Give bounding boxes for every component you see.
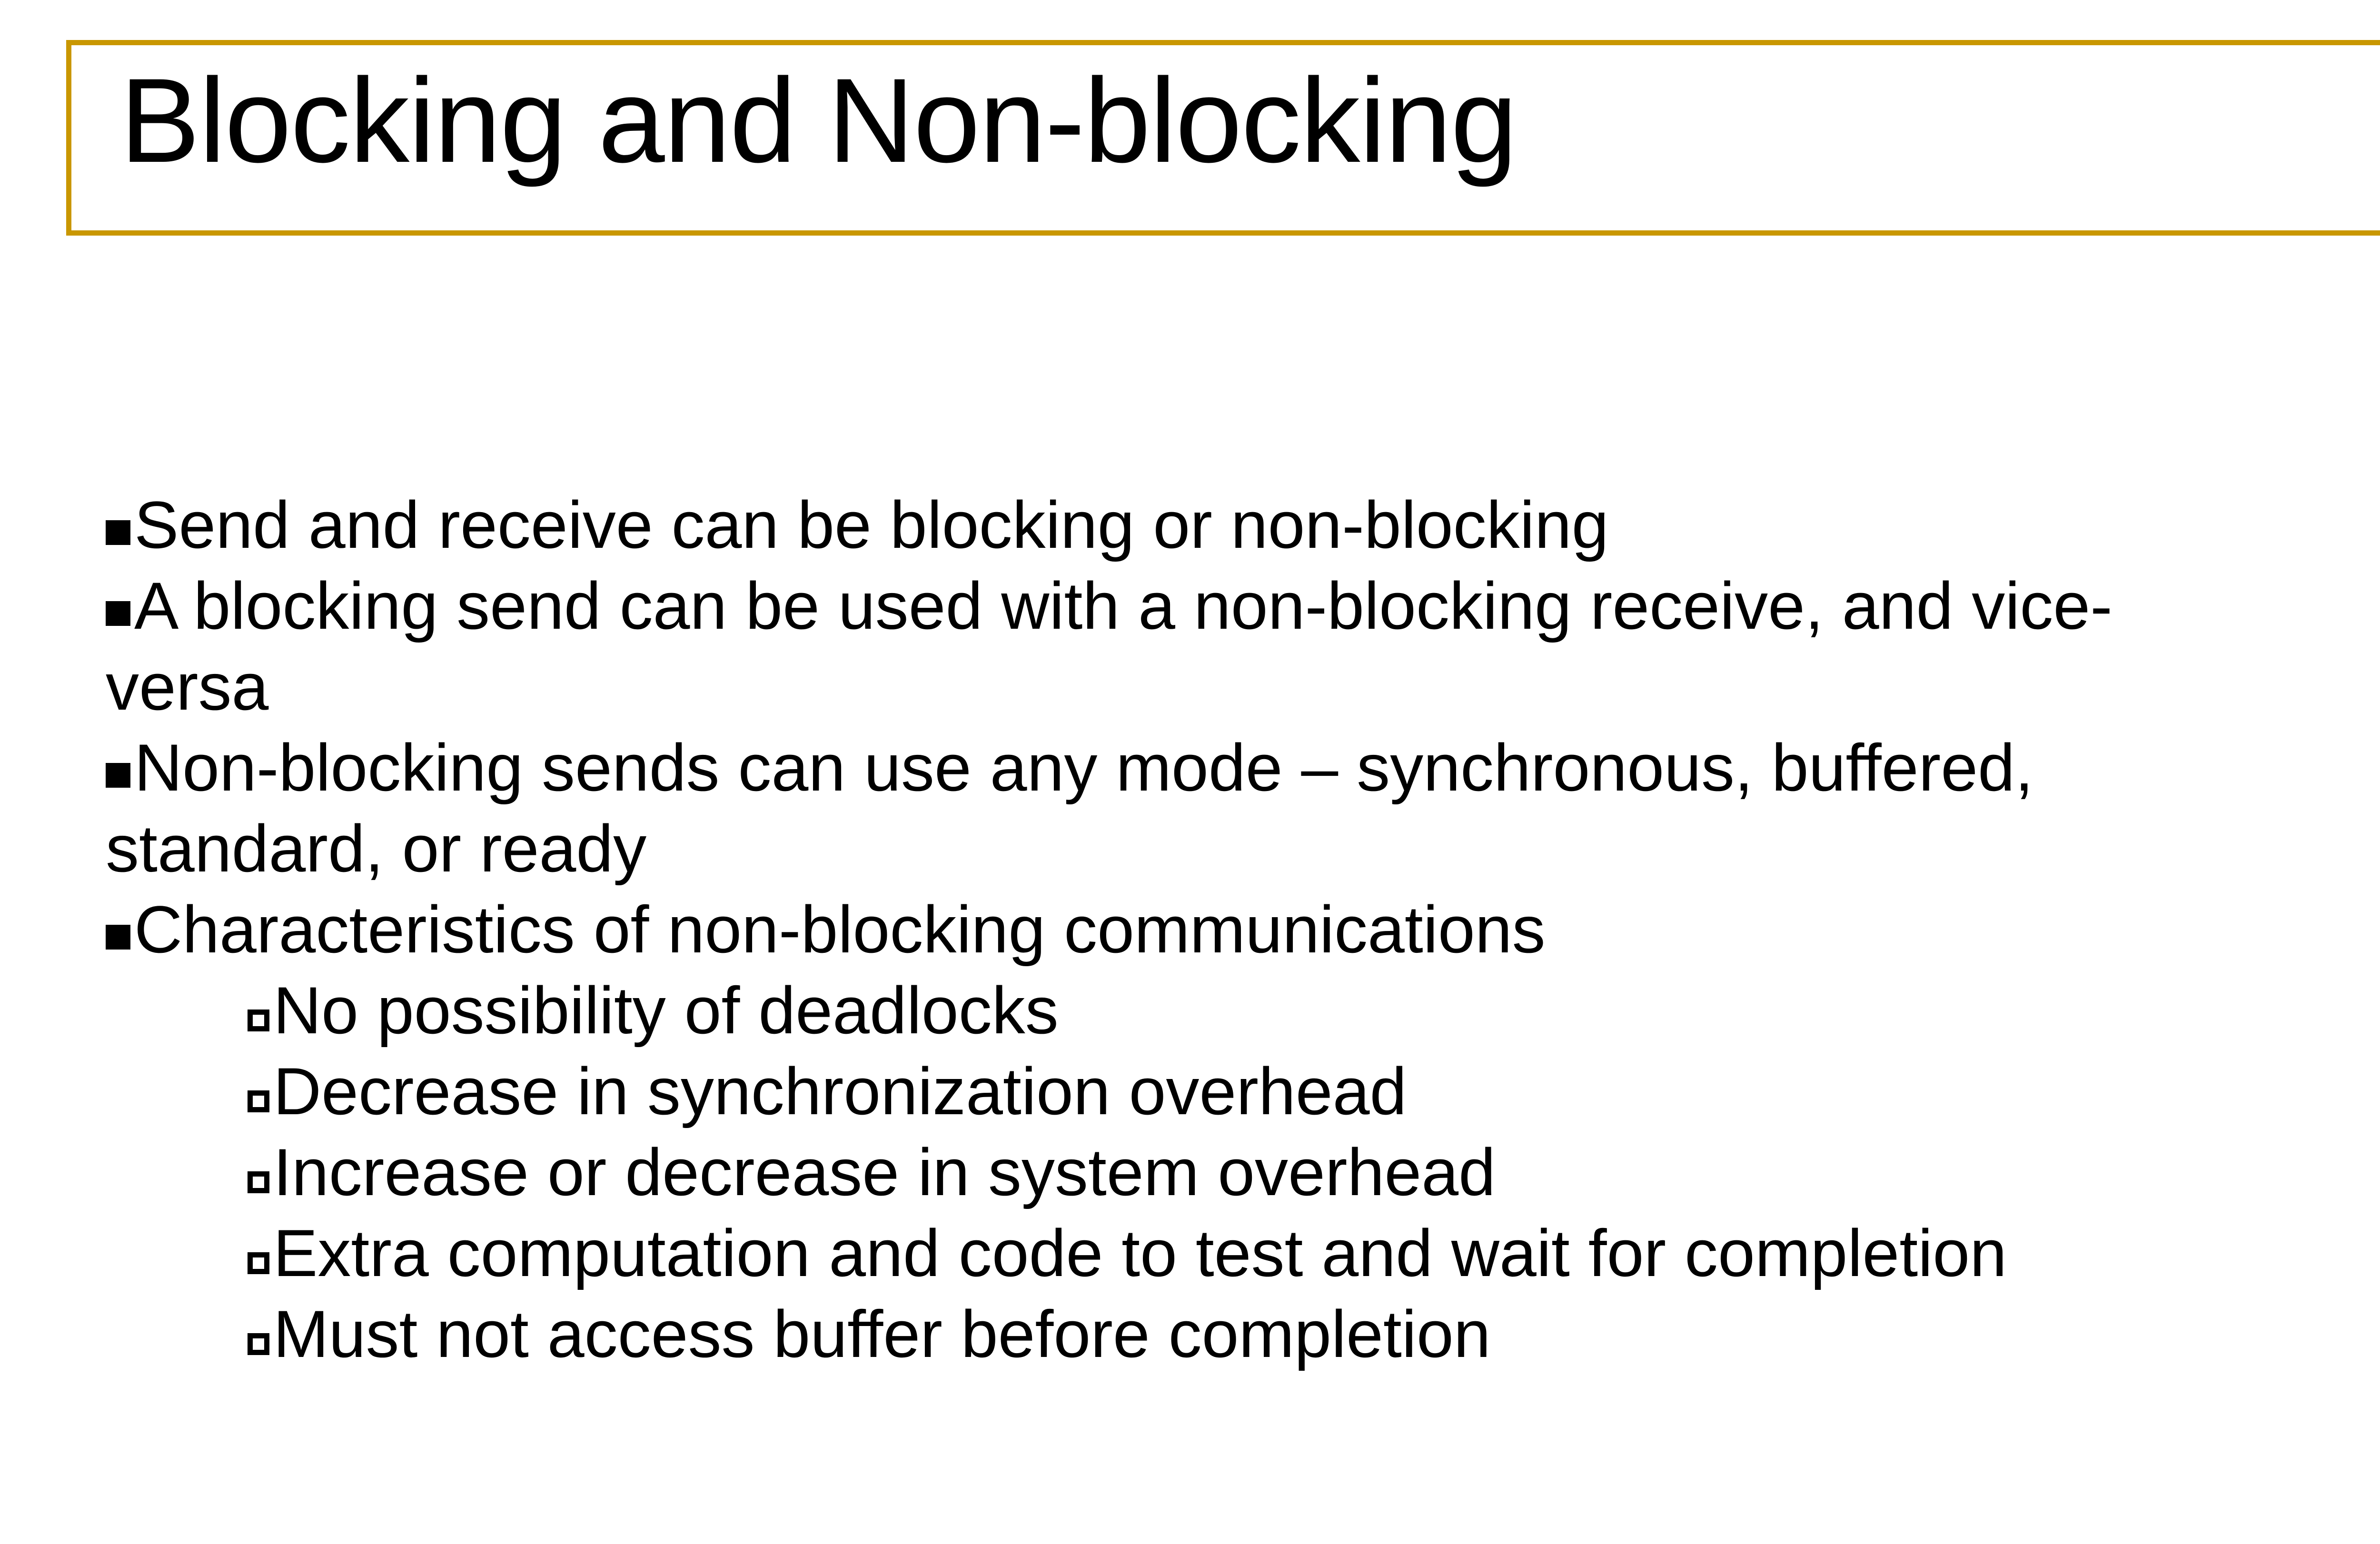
hollow-square-bullet-icon [248,1090,269,1112]
hollow-square-bullet-icon [248,1171,269,1193]
filled-square-bullet-icon [106,601,130,626]
list-item: Characteristics of non-blocking communic… [106,889,2380,970]
slide-canvas: Blocking and Non-blocking Send and recei… [0,0,2380,1544]
list-item-continuation: standard, or ready [106,808,2380,889]
body-content-list: Send and receive can be blocking or non-… [106,485,2380,1375]
list-item: Non-blocking sends can use any mode – sy… [106,727,2380,808]
sub-list-item: Extra computation and code to test and w… [106,1213,2380,1294]
sub-list-item: Decrease in synchronization overhead [106,1051,2380,1132]
list-item-label: A blocking send can be used with a non-b… [134,568,2112,643]
filled-square-bullet-icon [106,520,130,545]
hollow-square-bullet-icon [248,1010,269,1031]
sub-list-item-label: Decrease in synchronization overhead [273,1054,1407,1128]
sub-list-item: Must not access buffer before completion [106,1294,2380,1375]
list-item-continuation: versa [106,646,2380,727]
hollow-square-bullet-icon [248,1333,269,1355]
filled-square-bullet-icon [106,763,130,788]
page-title: Blocking and Non-blocking [120,61,2380,181]
list-item: A blocking send can be used with a non-b… [106,565,2380,646]
list-item-label: standard, or ready [106,811,646,886]
hollow-square-bullet-icon [248,1252,269,1274]
filled-square-bullet-icon [106,925,130,950]
list-item-label: versa [106,649,268,724]
list-item-label: Characteristics of non-blocking communic… [134,892,1546,967]
sub-list-item-label: Must not access buffer before completion [273,1297,1491,1371]
sub-list-item-label: Extra computation and code to test and w… [273,1216,2007,1290]
sub-list-item: No possibility of deadlocks [106,970,2380,1051]
list-item-label: Non-blocking sends can use any mode – sy… [134,730,2033,805]
list-item-label: Send and receive can be blocking or non-… [134,487,1609,562]
list-item: Send and receive can be blocking or non-… [106,485,2380,565]
sub-list-item-label: Increase or decrease in system overhead [273,1135,1496,1209]
sub-list-item: Increase or decrease in system overhead [106,1132,2380,1213]
sub-list-item-label: No possibility of deadlocks [273,973,1059,1048]
